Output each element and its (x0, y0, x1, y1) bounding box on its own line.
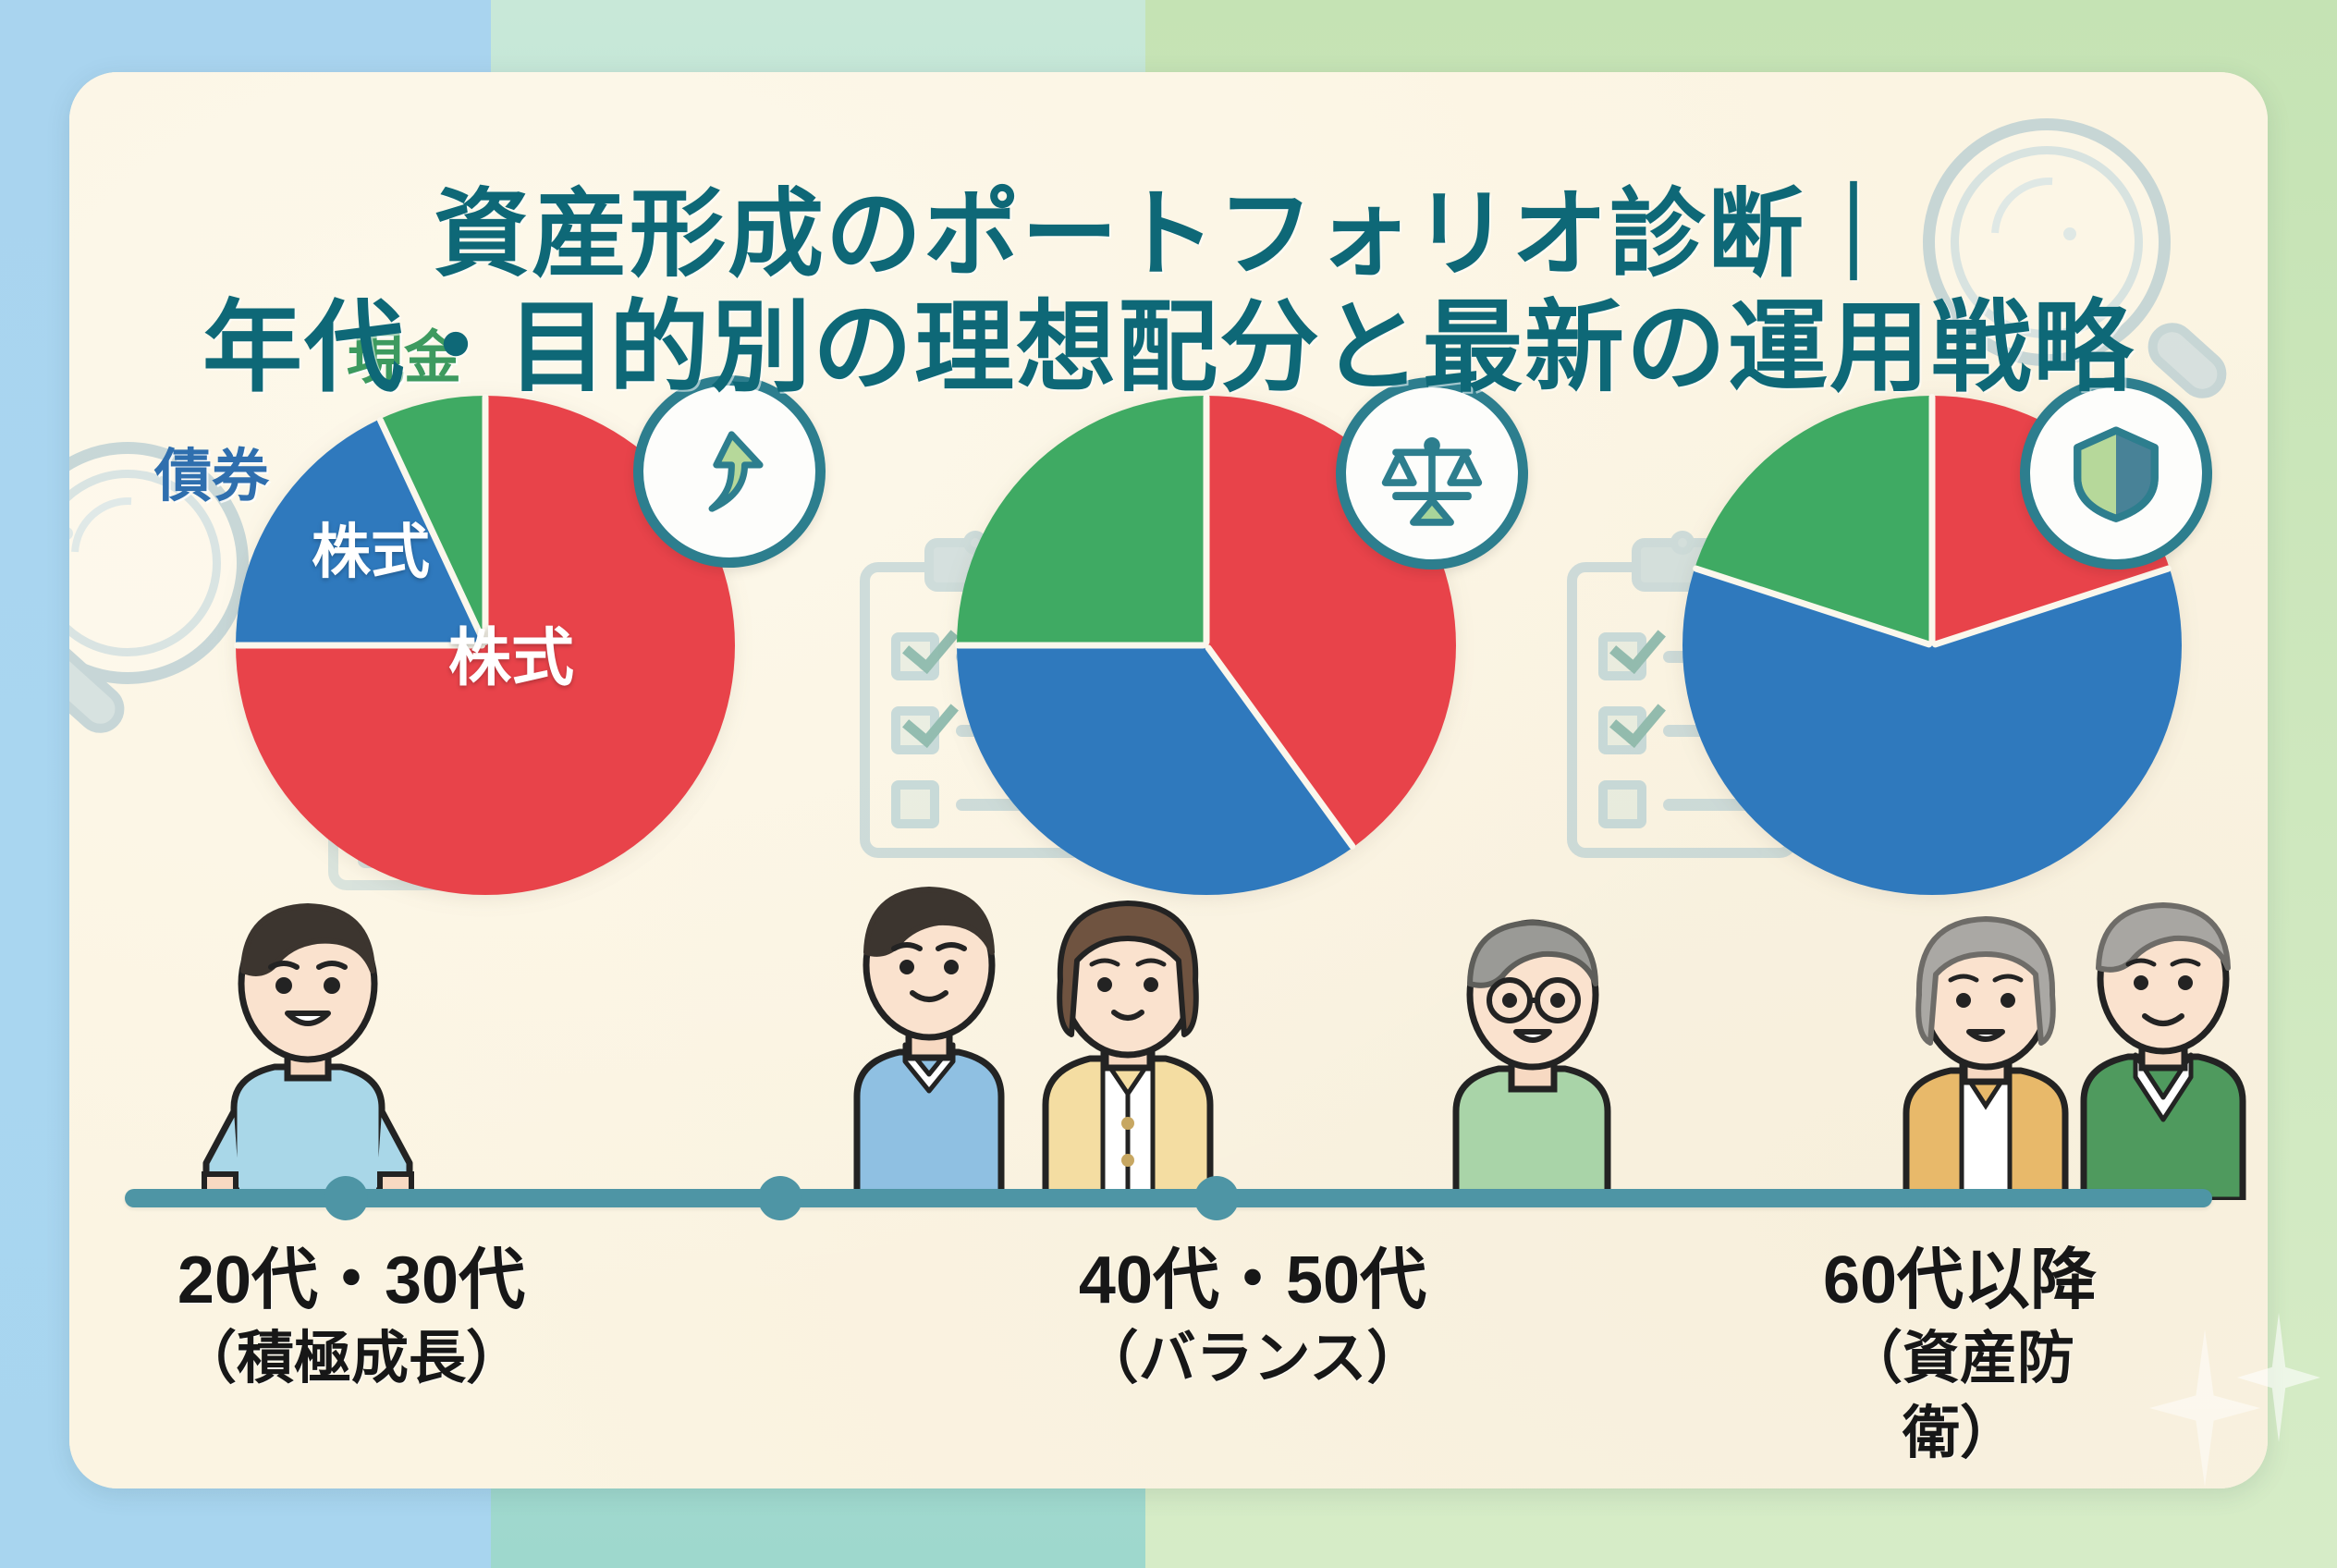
timeline-dot-middle[interactable] (758, 1176, 802, 1220)
timeline-dot-young[interactable] (324, 1176, 368, 1220)
title-line-2: 年代・目的別の理想配分と最新の運用戦略 (69, 288, 2268, 406)
growth-arrow-icon (675, 417, 784, 526)
timeline-dot-senior[interactable] (1194, 1176, 1239, 1220)
balance-scale-icon (1374, 415, 1490, 532)
title-line-1: 資産形成のポートフォリオ診断｜ (69, 181, 2268, 288)
pie-label-bonds-inside: 株式 (312, 505, 430, 590)
shield-icon (2062, 420, 2170, 527)
caption-senior: 60代以降 （資産防衛） (1806, 1239, 2114, 1471)
caption-senior-age: 60代以降 (1806, 1239, 2114, 1322)
timeline-axis (125, 1189, 2212, 1207)
pie-label-bonds-outside: 債券 (154, 429, 269, 512)
caption-middle: 40代・50代 （バランス） (1079, 1239, 1426, 1397)
person-senior-man-glasses (1410, 886, 1655, 1200)
person-middle-woman (994, 872, 1262, 1200)
pie-label-stocks-inside: 株式 (448, 606, 574, 698)
caption-senior-strategy: （資産防衛） (1806, 1322, 2114, 1471)
caption-young: 20代・30代 （積極成長） (177, 1239, 525, 1397)
caption-young-age: 20代・30代 (177, 1239, 525, 1322)
person-elderly-man (2034, 863, 2268, 1200)
caption-young-strategy: （積極成長） (177, 1322, 525, 1397)
page-title: 資産形成のポートフォリオ診断｜ 年代・目的別の理想配分と最新の運用戦略 (69, 181, 2268, 407)
infographic-card: 資産形成のポートフォリオ診断｜ 年代・目的別の理想配分と最新の運用戦略 現金 債… (69, 72, 2268, 1488)
caption-middle-strategy: （バランス） (1079, 1322, 1426, 1397)
person-young-man (178, 886, 437, 1200)
caption-middle-age: 40代・50代 (1079, 1239, 1426, 1322)
